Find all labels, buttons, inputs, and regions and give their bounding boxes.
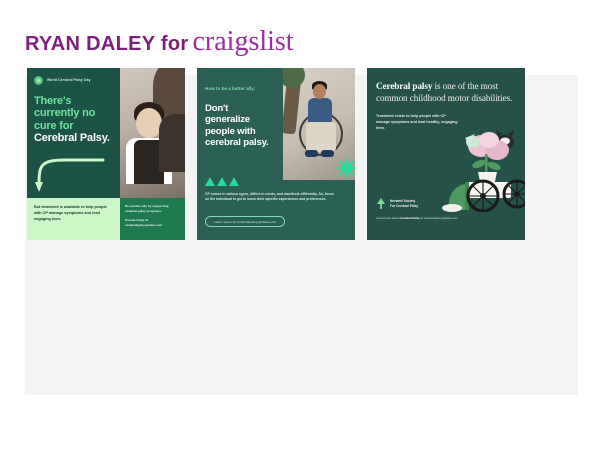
- page-header: RYAN DALEY forcraigslist: [25, 28, 565, 58]
- card-gallery: World Cerebral Palsy Day There's current…: [27, 68, 527, 240]
- page-title: RYAN DALEY forcraigslist: [25, 28, 565, 56]
- card-most-common-logo-text: Nextwell Society For Cerebral Palsy: [390, 199, 418, 208]
- card-no-cure-footer-left: But treatment is available to help peopl…: [27, 198, 120, 240]
- card-dont-generalize-cta-button[interactable]: Learn more at cerebralpalsyupdate.com: [205, 216, 285, 227]
- card-most-common-footer-suffix: at cerebralpalsyupdate.com: [420, 216, 458, 220]
- wheelchair-illustration: [435, 120, 525, 212]
- photo-foliage: [283, 68, 305, 88]
- card-most-common-footer: Learn more about Cerebral Palsy at cereb…: [376, 216, 458, 220]
- photo-person-shoe-left: [305, 150, 318, 157]
- card-dont-generalize-cta-label: Learn more at cerebralpalsyupdate.com: [214, 220, 276, 224]
- wcpd-badge: World Cerebral Palsy Day: [34, 76, 113, 85]
- photo-person-torso: [308, 98, 332, 124]
- card-dont-generalize[interactable]: How to be a better ally: Don't generaliz…: [197, 68, 355, 240]
- card-most-common-headline: Cerebral palsy is one of the most common…: [376, 81, 516, 105]
- card-dont-generalize-headline: Don't generalize people with cerebral pa…: [205, 103, 275, 148]
- card-dont-generalize-kicker: How to be a better ally:: [205, 86, 275, 93]
- card-no-cure-footer-left-text: But treatment is available to help peopl…: [34, 205, 113, 223]
- page-title-brand: craigslist: [193, 26, 294, 57]
- card-most-common-logo: Nextwell Society For Cerebral Palsy: [376, 198, 418, 209]
- card-no-cure-footer-right-line2: Donate today at cerebralpalsyupdate.com: [125, 218, 180, 227]
- triangle-divider-icon: [205, 177, 239, 186]
- card-dont-generalize-body: CP comes in various types, differs in ne…: [205, 192, 335, 203]
- page-title-bold: RYAN DALEY for: [25, 33, 189, 55]
- photo-adult-arm: [159, 114, 185, 172]
- card-no-cure-headline-white: Cerebral Palsy.: [34, 132, 110, 144]
- card-most-common[interactable]: Cerebral palsy is one of the most common…: [367, 68, 525, 240]
- card-no-cure-footer-right-line1: Be a better ally by supporting cerebral …: [125, 204, 180, 213]
- card-most-common-footer-bold: Cerebral Palsy: [400, 216, 419, 220]
- card-no-cure-top: World Cerebral Palsy Day There's current…: [27, 68, 185, 198]
- photo-person-head: [313, 84, 326, 99]
- card-most-common-logo-line2: For Cerebral Palsy: [390, 204, 418, 208]
- curved-arrow-icon: [35, 146, 115, 192]
- card-no-cure-headline-green: There's currently no cure for: [34, 95, 95, 132]
- card-dont-generalize-text-pane: How to be a better ally: Don't generaliz…: [197, 68, 283, 148]
- card-no-cure-text-pane: World Cerebral Palsy Day There's current…: [27, 68, 120, 198]
- card-most-common-headline-bold: Cerebral palsy: [376, 81, 432, 91]
- card-most-common-footer-prefix: Learn more about: [376, 216, 400, 220]
- card-no-cure-headline: There's currently no cure for Cerebral P…: [34, 95, 113, 144]
- card-no-cure-photo: [120, 68, 185, 198]
- wcpd-badge-label: World Cerebral Palsy Day: [47, 78, 91, 83]
- card-no-cure[interactable]: World Cerebral Palsy Day There's current…: [27, 68, 185, 240]
- card-no-cure-footer-right: Be a better ally by supporting cerebral …: [120, 198, 185, 240]
- photo-person-legs: [306, 122, 336, 152]
- starburst-icon: [335, 156, 355, 180]
- card-no-cure-footer: But treatment is available to help peopl…: [27, 198, 185, 240]
- photo-person-shoe-right: [321, 150, 334, 157]
- globe-icon: [34, 76, 43, 85]
- card-most-common-logo-line1: Nextwell Society: [390, 199, 418, 203]
- tree-logo-icon: [376, 198, 386, 209]
